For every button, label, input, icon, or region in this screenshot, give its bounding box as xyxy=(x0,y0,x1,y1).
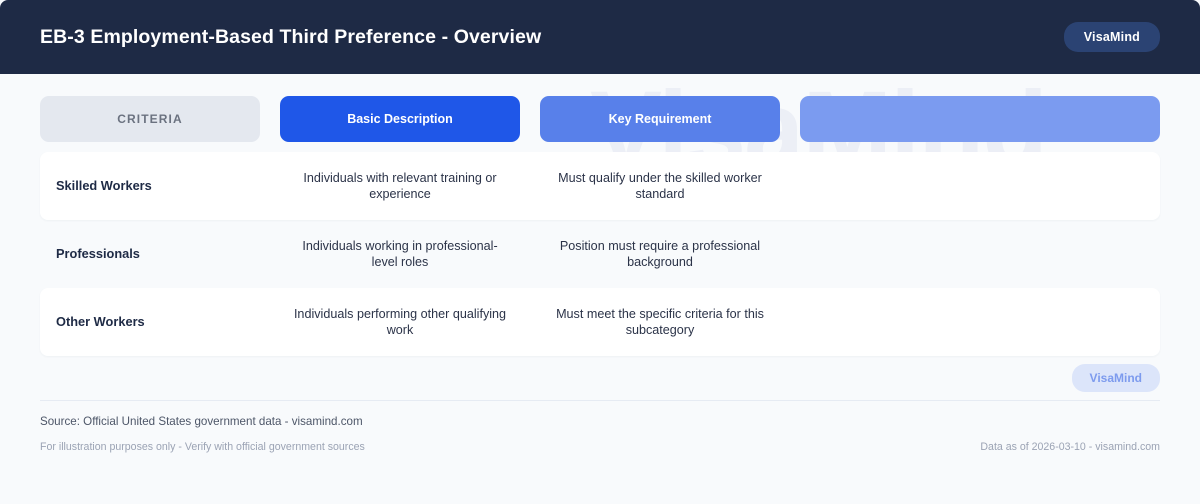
page-title: EB-3 Employment-Based Third Preference -… xyxy=(40,26,541,49)
table-header-row: CRITERIA Basic Description Key Requireme… xyxy=(40,96,1160,142)
table-body: Skilled Workers Individuals with relevan… xyxy=(40,152,1160,356)
cell-extra xyxy=(800,310,1160,334)
cell-basic-description: Individuals performing other qualifying … xyxy=(280,294,520,350)
cell-criteria: Professionals xyxy=(40,234,260,274)
cell-criteria: Other Workers xyxy=(40,302,260,342)
page-header: EB-3 Employment-Based Third Preference -… xyxy=(0,0,1200,74)
table-row: Skilled Workers Individuals with relevan… xyxy=(40,152,1160,220)
footer-brand-badge: VisaMind xyxy=(1072,364,1160,392)
overview-table: CRITERIA Basic Description Key Requireme… xyxy=(40,74,1160,356)
footer-meta-row: For illustration purposes only - Verify … xyxy=(40,441,1160,453)
brand-badge: VisaMind xyxy=(1064,22,1160,52)
cell-basic-description: Individuals working in professional-leve… xyxy=(280,226,520,282)
content-area: VisaMind CRITERIA Basic Description Key … xyxy=(0,74,1200,356)
footer-badge-row: VisaMind xyxy=(0,356,1200,400)
cell-extra xyxy=(800,242,1160,266)
cell-criteria: Skilled Workers xyxy=(40,166,260,206)
table-row: Professionals Individuals working in pro… xyxy=(40,220,1160,288)
footer-data-date: Data as of 2026-03-10 - visamind.com xyxy=(980,441,1160,453)
column-header-basic-description[interactable]: Basic Description xyxy=(280,96,520,142)
column-header-criteria[interactable]: CRITERIA xyxy=(40,96,260,142)
page-footer: Source: Official United States governmen… xyxy=(0,401,1200,453)
page-root: EB-3 Employment-Based Third Preference -… xyxy=(0,0,1200,504)
cell-key-requirement: Must meet the specific criteria for this… xyxy=(540,294,780,350)
cell-extra xyxy=(800,174,1160,198)
column-header-key-requirement[interactable]: Key Requirement xyxy=(540,96,780,142)
footer-disclaimer: For illustration purposes only - Verify … xyxy=(40,441,365,453)
table-row: Other Workers Individuals performing oth… xyxy=(40,288,1160,356)
footer-source-text: Source: Official United States governmen… xyxy=(40,415,1160,428)
column-header-extra[interactable] xyxy=(800,96,1160,142)
cell-basic-description: Individuals with relevant training or ex… xyxy=(280,158,520,214)
cell-key-requirement: Position must require a professional bac… xyxy=(540,226,780,282)
cell-key-requirement: Must qualify under the skilled worker st… xyxy=(540,158,780,214)
